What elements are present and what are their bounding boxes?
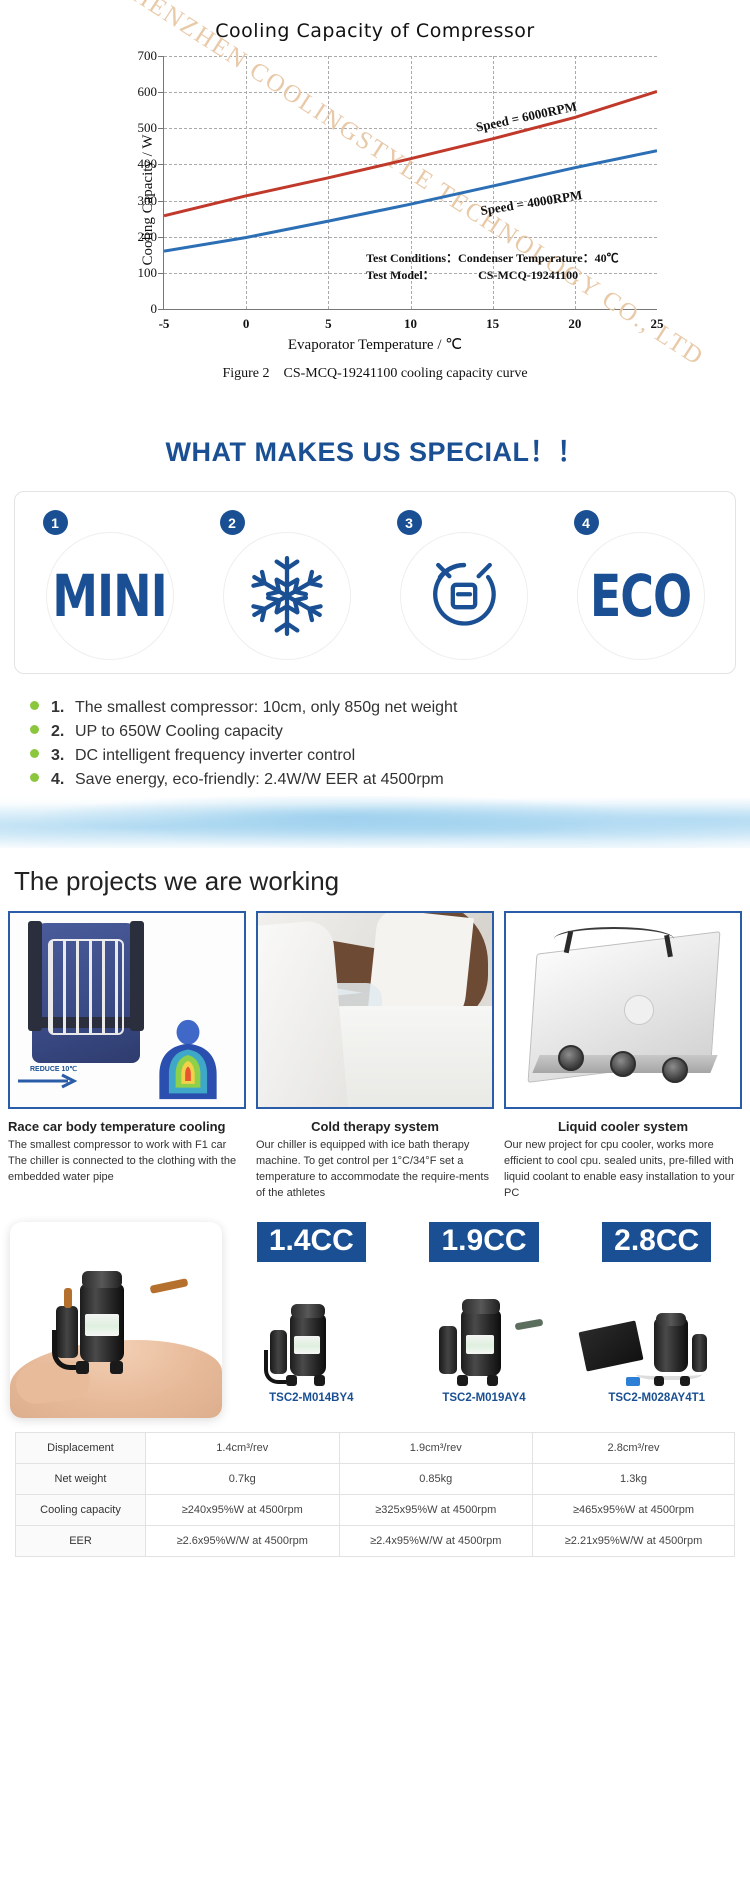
- bullet-number: 2.: [51, 723, 75, 741]
- list-item: 1. The smallest compressor: 10cm, only 8…: [30, 696, 750, 720]
- row-label: Cooling capacity: [16, 1494, 146, 1525]
- badge-number-4: 4: [574, 510, 599, 535]
- chart-canvas: Cooling Capacity / W SHENZHEN COOLINGSTY…: [85, 50, 665, 350]
- row-label: Displacement: [16, 1432, 146, 1463]
- x-tick-label: 0: [243, 316, 250, 332]
- models-section: 1.4CC TSC2-M014BY4 1.9CC: [0, 1202, 750, 1418]
- compressor-2-8cc-photo: [573, 1268, 740, 1388]
- y-tick-label: 600: [138, 84, 158, 100]
- race-car-cooling-vest-photo: REDUCE 10℃: [8, 911, 246, 1109]
- figure-caption: Figure 2 CS-MCQ-19241100 cooling capacit…: [0, 350, 750, 382]
- table-row: Displacement 1.4cm³/rev 1.9cm³/rev 2.8cm…: [16, 1432, 735, 1463]
- chart-plot-area: SHENZHEN COOLINGSTYLE TECHNOLOGY CO., LT…: [163, 56, 657, 310]
- model-code: TSC2-M019AY4: [401, 1388, 568, 1404]
- water-decoration: [0, 796, 750, 848]
- badge-number-3: 3: [397, 510, 422, 535]
- cell: ≥325x95%W at 4500rpm: [339, 1494, 533, 1525]
- table-row: Net weight 0.7kg 0.85kg 1.3kg: [16, 1463, 735, 1494]
- eco-label: ECO: [590, 562, 691, 630]
- list-item: 4. Save energy, eco-friendly: 2.4W/W EER…: [30, 768, 750, 792]
- feature-icon-cell-1: 1 MINI: [35, 506, 185, 661]
- feature-icon-cell-2: 2: [212, 506, 362, 661]
- mini-text-icon: MINI: [46, 532, 174, 660]
- feature-icon-cell-3: 3: [389, 506, 539, 661]
- bullet-dot-icon: [30, 749, 39, 758]
- feature-icon-cell-4: 4 ECO: [566, 506, 716, 661]
- projects-section: The projects we are working REDUCE 10℃: [0, 848, 750, 1202]
- test-model-label: Test Model：: [366, 267, 478, 284]
- mini-label: MINI: [52, 562, 167, 630]
- test-conditions-annotation: Test Conditions：Condenser Temperature：40…: [366, 250, 618, 285]
- cell: 1.3kg: [533, 1463, 735, 1494]
- y-tick-label: 500: [138, 120, 158, 136]
- eco-text-icon: ECO: [577, 532, 705, 660]
- model-code: TSC2-M028AY4T1: [573, 1388, 740, 1404]
- project-body: Our new project for cpu cooler, works mo…: [504, 1138, 742, 1202]
- displacement-badge: 1.4CC: [257, 1222, 366, 1263]
- test-conditions-label: Test Conditions：: [366, 251, 458, 265]
- model-card-1-4cc: 1.4CC TSC2-M014BY4: [228, 1222, 395, 1418]
- displacement-badge: 1.9CC: [429, 1222, 538, 1263]
- x-axis-title: Evaporator Temperature / ℃: [85, 335, 665, 354]
- chart-title: Cooling Capacity of Compressor: [0, 8, 750, 50]
- cell: 1.4cm³/rev: [146, 1432, 340, 1463]
- row-label: EER: [16, 1525, 146, 1556]
- test-model-value: CS-MCQ-19241100: [478, 268, 578, 282]
- bullet-dot-icon: [30, 725, 39, 734]
- project-card-cold-therapy: Cold therapy system Our chiller is equip…: [256, 911, 494, 1202]
- reduce-temp-label: REDUCE 10℃: [30, 1065, 77, 1073]
- cell: ≥2.21x95%W/W at 4500rpm: [533, 1525, 735, 1556]
- compressor-1-9cc-photo: [401, 1268, 568, 1388]
- inverter-control-icon: [400, 532, 528, 660]
- feature-bullet-list: 1. The smallest compressor: 10cm, only 8…: [0, 674, 750, 792]
- bullet-number: 3.: [51, 747, 75, 765]
- table-row: Cooling capacity ≥240x95%W at 4500rpm ≥3…: [16, 1494, 735, 1525]
- specification-table: Displacement 1.4cm³/rev 1.9cm³/rev 2.8cm…: [15, 1432, 735, 1557]
- project-title: Liquid cooler system: [504, 1109, 742, 1138]
- compressor-in-hand-photo: [10, 1222, 222, 1418]
- projects-heading: The projects we are working: [0, 848, 750, 911]
- y-tick-label: 300: [138, 193, 158, 209]
- project-body: The smallest compressor to work with F1 …: [8, 1138, 246, 1186]
- feature-icons-card: 1 MINI 2: [14, 491, 736, 674]
- projects-row: REDUCE 10℃ Race car body temperature coo…: [0, 911, 750, 1202]
- thermal-body-map: [140, 1017, 236, 1101]
- test-conditions-value: Condenser Temperature：40℃: [458, 251, 619, 265]
- list-item: 3. DC intelligent frequency inverter con…: [30, 744, 750, 768]
- bullet-text: Save energy, eco-friendly: 2.4W/W EER at…: [75, 771, 444, 789]
- badge-number-2: 2: [220, 510, 245, 535]
- x-tick-label: 5: [325, 316, 332, 332]
- cell: 1.9cm³/rev: [339, 1432, 533, 1463]
- snowflake-icon: [223, 532, 351, 660]
- bullet-number: 1.: [51, 699, 75, 717]
- cooling-capacity-chart-section: Cooling Capacity of Compressor Cooling C…: [0, 0, 750, 382]
- what-makes-us-special-section: WHAT MAKES US SPECIAL！！ 1 MINI 2: [0, 382, 750, 848]
- bullet-number: 4.: [51, 771, 75, 789]
- cell: ≥2.6x95%W/W at 4500rpm: [146, 1525, 340, 1556]
- bullet-dot-icon: [30, 773, 39, 782]
- bullet-text: DC intelligent frequency inverter contro…: [75, 747, 355, 765]
- cold-therapy-ice-bath-photo: [256, 911, 494, 1109]
- model-code: TSC2-M014BY4: [228, 1388, 395, 1404]
- bullet-text: The smallest compressor: 10cm, only 850g…: [75, 699, 457, 717]
- x-tick-label: 20: [568, 316, 581, 332]
- badge-number-1: 1: [43, 510, 68, 535]
- x-tick-label: -5: [159, 316, 170, 332]
- y-tick-label: 400: [138, 156, 158, 172]
- x-tick-label: 25: [651, 316, 664, 332]
- cell: ≥240x95%W at 4500rpm: [146, 1494, 340, 1525]
- y-tick-mark: [158, 309, 164, 310]
- arrow-icon: [18, 1073, 84, 1089]
- series-line-0: [164, 91, 657, 215]
- bullet-text: UP to 650W Cooling capacity: [75, 723, 283, 741]
- y-tick-label: 700: [138, 48, 158, 64]
- compressor-1-4cc-photo: [228, 1268, 395, 1388]
- list-item: 2. UP to 650W Cooling capacity: [30, 720, 750, 744]
- x-tick-label: 10: [404, 316, 417, 332]
- y-tick-label: 200: [138, 229, 158, 245]
- model-card-1-9cc: 1.9CC TSC2-M019AY4: [401, 1222, 568, 1418]
- displacement-badge: 2.8CC: [602, 1222, 711, 1263]
- project-body: Our chiller is equipped with ice bath th…: [256, 1138, 494, 1202]
- table-row: EER ≥2.6x95%W/W at 4500rpm ≥2.4x95%W/W a…: [16, 1525, 735, 1556]
- project-title: Cold therapy system: [256, 1109, 494, 1138]
- y-tick-label: 0: [151, 301, 158, 317]
- cell: 0.7kg: [146, 1463, 340, 1494]
- model-card-2-8cc: 2.8CC TSC2-M028AY4T1: [573, 1222, 740, 1418]
- cell: ≥465x95%W at 4500rpm: [533, 1494, 735, 1525]
- cell: ≥2.4x95%W/W at 4500rpm: [339, 1525, 533, 1556]
- x-tick-label: 15: [486, 316, 499, 332]
- project-card-liquid-cooler: Liquid cooler system Our new project for…: [504, 911, 742, 1202]
- cell: 2.8cm³/rev: [533, 1432, 735, 1463]
- special-heading: WHAT MAKES US SPECIAL！！: [0, 382, 750, 491]
- row-label: Net weight: [16, 1463, 146, 1494]
- liquid-cpu-cooler-photo: [504, 911, 742, 1109]
- product-page: Cooling Capacity of Compressor Cooling C…: [0, 0, 750, 1557]
- project-title: Race car body temperature cooling: [8, 1109, 246, 1138]
- project-card-race-car: REDUCE 10℃ Race car body temperature coo…: [8, 911, 246, 1202]
- cell: 0.85kg: [339, 1463, 533, 1494]
- bullet-dot-icon: [30, 701, 39, 710]
- y-tick-label: 100: [138, 265, 158, 281]
